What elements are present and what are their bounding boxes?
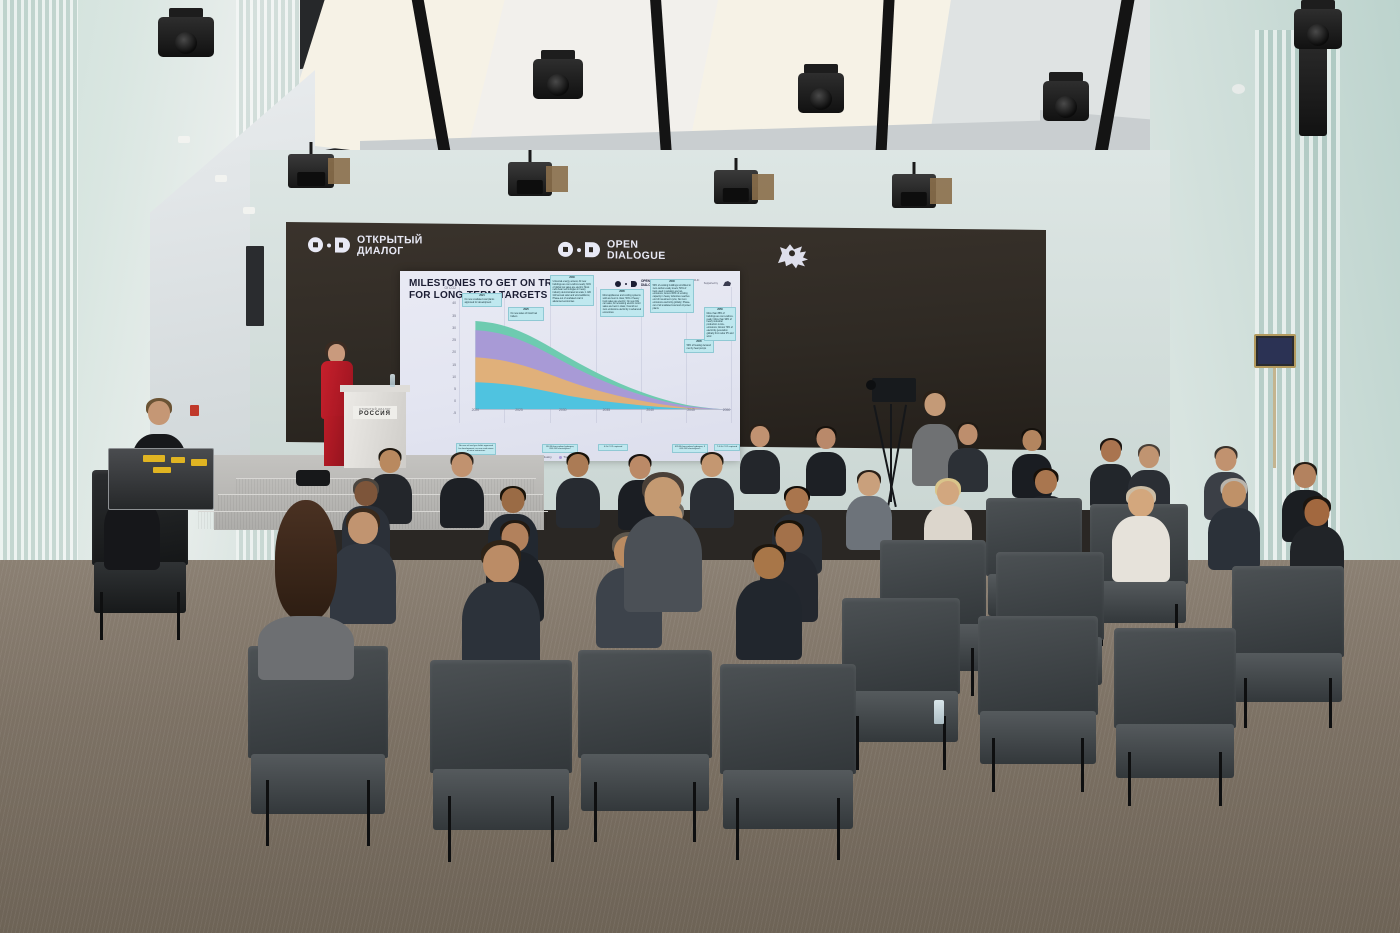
person-head — [1023, 430, 1042, 451]
person-head — [1294, 464, 1316, 488]
presentation-slide: MILESTONES TO GET ON TRACK FOR LONG-TERM… — [400, 271, 740, 461]
chair-seat — [1092, 581, 1186, 624]
y-tick: 5 — [454, 387, 456, 391]
flight-case — [108, 448, 214, 510]
chair — [842, 598, 960, 770]
equipment-bag — [296, 470, 330, 486]
chair-seat — [581, 754, 710, 812]
video-camera — [872, 378, 916, 402]
chair-leg — [177, 592, 180, 640]
chart-area: Gt CO2 40 35 30 25 20 15 10 5 0 -5 — [432, 287, 734, 439]
audience-member — [462, 540, 540, 678]
person-head — [148, 401, 170, 425]
milestone-callout-2021: 2021 No new unabated coal plants approve… — [462, 293, 502, 307]
person-head — [1101, 440, 1121, 462]
chair-leg — [1219, 752, 1222, 806]
light-lens — [1307, 24, 1329, 46]
chair — [1114, 628, 1236, 806]
audience-member — [440, 452, 484, 528]
milestone-callout-2045: 2045 50% of heating demand met by heat p… — [684, 339, 714, 353]
fresnel-light — [508, 150, 552, 198]
milestone-callout-2040: 2040 50% of existing buildings retrofitt… — [650, 279, 694, 313]
chair-leg — [992, 738, 995, 792]
person-head — [751, 426, 770, 447]
barn-door — [328, 158, 350, 184]
audience-member — [736, 544, 802, 660]
person-torso — [1112, 516, 1170, 582]
x-tick: 2025 — [515, 408, 523, 412]
milestone-callout-2050: 2050 More than 85% of buildings are zero… — [704, 307, 736, 341]
person-head — [1216, 448, 1237, 471]
y-tick: 0 — [454, 399, 456, 403]
camera-lens-icon — [866, 380, 876, 390]
smoke-detector-icon — [1232, 84, 1245, 94]
chair-seat — [1116, 724, 1233, 777]
y-axis: Gt CO2 40 35 30 25 20 15 10 5 0 -5 — [432, 287, 458, 423]
tool — [171, 457, 185, 463]
chair — [978, 616, 1098, 792]
person-torso — [556, 478, 600, 528]
water-bottle — [934, 700, 944, 724]
y-tick: 15 — [452, 363, 456, 367]
podium-plate-line2: РОССИЯ — [359, 411, 391, 417]
person-head — [786, 488, 809, 513]
person-head — [286, 506, 326, 550]
milestone-callout-2030: 2030 Universal energy access; All new bu… — [550, 275, 594, 306]
person-head — [817, 428, 836, 449]
wall-light-icon — [178, 136, 190, 143]
person-torso — [440, 478, 484, 528]
chair-leg — [837, 798, 840, 860]
axis-note-2050: 7.6 Gt CO2 captured — [714, 444, 740, 451]
brand-name-en: OPEN DIALOGUE — [607, 239, 666, 261]
od-mark-icon — [308, 237, 350, 252]
logo-circle-icon — [558, 242, 573, 257]
chair-leg — [856, 716, 859, 770]
conference-hall-photo: ОТКРЫТЫЙ ДИАЛОГ OPEN DIALOGUE MILESTONES… — [0, 0, 1400, 933]
chair-leg — [1128, 752, 1131, 806]
barn-door — [930, 178, 952, 204]
light-lens — [901, 192, 927, 206]
fresnel-light — [714, 158, 758, 206]
chair — [430, 660, 572, 862]
brand-logo-ru: ОТКРЫТЫЙ ДИАЛОГ — [308, 234, 423, 256]
x-tick: 2030 — [559, 408, 567, 412]
light-body — [158, 17, 214, 57]
chair — [720, 664, 856, 860]
moving-head-light — [1043, 72, 1089, 124]
light-lens — [547, 74, 569, 96]
chair-leg — [943, 716, 946, 770]
light-body — [533, 59, 583, 99]
person-torso — [736, 580, 802, 660]
logo-d-icon — [335, 238, 350, 253]
fresnel-light — [892, 162, 936, 210]
person-head — [959, 424, 978, 445]
logo-dot-icon — [577, 248, 581, 252]
light-lens — [1055, 96, 1077, 118]
chair-leg — [594, 782, 597, 842]
brand-name-ru: ОТКРЫТЫЙ ДИАЛОГ — [357, 235, 423, 257]
person-head — [380, 450, 401, 473]
podium-nameplate: ОТКРЫТЫЙ ДИАЛОГ РОССИЯ — [353, 406, 397, 419]
chair-leg — [100, 592, 103, 640]
logo-circle-icon — [308, 237, 323, 252]
light-lens — [517, 180, 543, 194]
chair — [578, 650, 712, 842]
chair-leg — [1244, 678, 1247, 728]
fresnel-light — [288, 142, 334, 192]
person-head — [483, 545, 519, 583]
moving-head-light — [1294, 0, 1342, 50]
person-head — [925, 393, 946, 416]
audience-member — [556, 452, 600, 528]
water-bottle — [390, 374, 395, 387]
person-torso — [258, 616, 354, 680]
logo-d-icon — [631, 281, 637, 287]
y-tick: 30 — [452, 326, 456, 330]
y-tick: 40 — [452, 301, 456, 305]
audience-member — [1112, 486, 1170, 582]
person-head — [1222, 481, 1246, 507]
light-lens — [297, 172, 325, 186]
tool — [191, 459, 207, 466]
chair-seat — [723, 770, 854, 829]
moving-head-light — [158, 8, 214, 66]
podium-top — [340, 385, 410, 392]
moving-head-light — [798, 64, 844, 116]
y-axis-label: Gt CO2 — [445, 286, 457, 290]
chair-back — [842, 598, 960, 694]
chair-seat — [1234, 653, 1342, 702]
chair-seat — [980, 711, 1095, 764]
od-mark-icon — [558, 242, 600, 257]
confidence-monitor — [1254, 334, 1296, 368]
logo-dot-icon — [327, 243, 331, 247]
moving-head-light — [533, 50, 583, 104]
light-lens — [723, 188, 749, 202]
person-head — [754, 547, 784, 579]
x-tick: 2035 — [603, 408, 611, 412]
light-lens — [810, 88, 832, 110]
barn-door — [752, 174, 774, 200]
light-lens — [175, 32, 197, 54]
person-head — [568, 454, 589, 477]
logo-d-icon — [585, 242, 600, 257]
logo-dot-icon — [625, 283, 627, 285]
chair-leg — [736, 798, 739, 860]
vytis-lion-icon — [772, 239, 814, 269]
person-head — [1305, 499, 1330, 526]
audience-member — [1208, 478, 1260, 570]
light-body — [1294, 9, 1342, 49]
chair-seat — [251, 754, 385, 814]
x-tick: 2045 — [687, 408, 695, 412]
y-tick: 35 — [452, 314, 456, 318]
chair-leg — [367, 780, 370, 846]
y-tick: 20 — [452, 350, 456, 354]
light-body — [798, 73, 844, 113]
person-head — [502, 488, 525, 513]
chair-back — [578, 650, 712, 758]
wall-light-icon — [243, 207, 255, 214]
y-tick: 25 — [452, 338, 456, 342]
chair-leg — [971, 648, 974, 696]
person-head — [355, 481, 378, 506]
chair-back — [720, 664, 856, 774]
person-head — [702, 454, 723, 477]
chair-leg — [1329, 678, 1332, 728]
milestone-callout-2035: 2035 Most appliances and cooling systems… — [600, 289, 644, 317]
person-torso — [1208, 508, 1260, 570]
monitor-stand — [1273, 368, 1276, 468]
wall-speaker — [246, 246, 264, 326]
chair — [1232, 566, 1344, 728]
milestone-callout-2025: 2025 No new sales of fossil fuel boilers — [508, 307, 544, 321]
person-head — [645, 477, 682, 517]
chair-back — [430, 660, 572, 773]
chair-leg — [1081, 738, 1084, 792]
x-tick: 2020 — [472, 408, 480, 412]
slide-partner-label: Supported by — [704, 282, 718, 285]
chair-leg — [693, 782, 696, 842]
alarm-icon — [190, 405, 199, 416]
x-tick: 2050 — [723, 408, 731, 412]
axis-note-2035: 4 Gt CO2 captured — [598, 444, 628, 451]
brand-logo-en: OPEN DIALOGUE — [558, 239, 666, 261]
y-tick: -5 — [453, 411, 456, 415]
tool — [143, 455, 165, 462]
audience-member — [624, 472, 702, 612]
y-tick: 10 — [452, 375, 456, 379]
person-head — [1128, 489, 1154, 517]
chair-back — [1114, 628, 1236, 728]
audience-member — [740, 424, 780, 494]
chair-leg — [448, 796, 451, 862]
chair-back — [978, 616, 1098, 715]
person-head — [1139, 446, 1159, 468]
light-body — [1043, 81, 1089, 121]
chair-leg — [551, 796, 554, 862]
person-torso — [624, 516, 702, 612]
audience-member — [846, 470, 892, 550]
audience-member — [258, 500, 354, 680]
barn-door — [546, 166, 568, 192]
hanging-speaker — [1299, 40, 1327, 136]
chair-back — [1232, 566, 1344, 657]
tool — [153, 467, 171, 473]
x-tick: 2040 — [646, 408, 654, 412]
person-head — [937, 481, 959, 505]
person-head — [1035, 470, 1057, 494]
logo-circle-icon — [615, 281, 621, 287]
wall-light-icon — [215, 175, 227, 182]
chair-leg — [266, 780, 269, 846]
person-head — [858, 472, 880, 496]
person-head — [452, 454, 473, 477]
chair-seat — [433, 769, 569, 830]
